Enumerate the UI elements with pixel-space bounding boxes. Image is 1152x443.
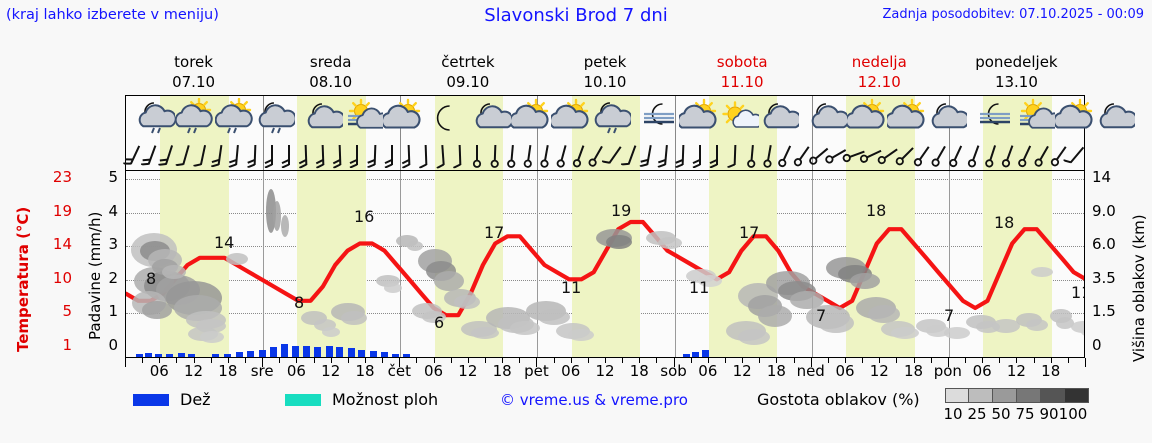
day-name: četrtek — [399, 52, 536, 72]
rain-bar — [236, 352, 243, 357]
day-header-sobota: sobota11.10 — [674, 52, 811, 94]
cloud-density-blob — [1031, 267, 1053, 277]
cloud-density-blob — [200, 331, 224, 343]
cloud-density-blob — [510, 321, 540, 335]
rain-bar — [136, 354, 143, 357]
cloud-density-swatch — [993, 388, 1017, 403]
weather-icon-sun-smallcloud — [719, 98, 759, 138]
cloud-density-blob — [658, 237, 682, 249]
cloud-height-tick: 6.0 — [1092, 235, 1126, 253]
cloud-density-blob — [434, 271, 464, 291]
temperature-tick: 5 — [42, 302, 72, 320]
weather-icon-sun-cloud-rain — [215, 98, 255, 138]
day-header-row: torek07.10sreda08.10četrtek09.10petek10.… — [125, 52, 1085, 94]
rain-bar — [270, 347, 277, 357]
weather-icon-sun-cloud — [551, 98, 591, 138]
temperature-point-label: 7 — [816, 306, 826, 325]
day-date: 11.10 — [674, 72, 811, 92]
copyright-link[interactable]: © vreme.us & vreme.pro — [500, 391, 688, 409]
cloud-height-tick: 0 — [1092, 336, 1126, 354]
cloud-density-swatch — [1041, 388, 1065, 403]
rain-bar — [303, 346, 310, 357]
rain-bar — [259, 350, 266, 357]
rain-bar — [336, 347, 343, 357]
last-update-text: Zadnja posodobitev: 07.10.2025 - 00:09 — [882, 7, 1144, 22]
rain-bar — [326, 346, 333, 357]
day-date: 08.10 — [262, 72, 399, 92]
weather-icon-sun-cloud — [887, 98, 927, 138]
cloud-density-blob — [281, 215, 289, 237]
day-name: petek — [536, 52, 673, 72]
weather-icon-night-cloud — [807, 98, 847, 138]
rain-bar — [348, 348, 355, 357]
meteogram-page: (kraj lahko izberete v meniju) Slavonski… — [0, 0, 1152, 443]
cloud-density-blob — [538, 309, 570, 325]
cloud-density-blob — [341, 311, 367, 325]
wind-barb — [1064, 142, 1090, 168]
day-header-četrtek: četrtek09.10 — [399, 52, 536, 94]
showers-legend-swatch — [285, 394, 321, 406]
rain-bar — [166, 354, 173, 357]
temperature-point-label: 17 — [739, 223, 759, 242]
cloud-density-blob — [606, 235, 632, 249]
x-tick — [1085, 358, 1086, 367]
rain-bar — [358, 350, 365, 357]
temperature-point-label: 6 — [434, 313, 444, 332]
precipitation-tick: 5 — [100, 168, 118, 186]
cloud-height-tick: 3.5 — [1092, 269, 1126, 287]
cloud-density-blob — [944, 327, 970, 339]
rain-bar — [292, 346, 299, 357]
rain-bar — [247, 351, 254, 357]
rain-bar — [212, 354, 219, 357]
temperature-tick: 23 — [42, 168, 72, 186]
rain-bar — [702, 350, 709, 357]
weather-icon-night-cloud-rain — [255, 98, 295, 138]
day-header-petek: petek10.10 — [536, 52, 673, 94]
rain-legend-swatch — [133, 394, 169, 406]
day-name: nedelja — [811, 52, 948, 72]
showers-legend-label: Možnost ploh — [332, 390, 438, 409]
day-header-nedelja: nedelja12.10 — [811, 52, 948, 94]
temperature-point-label: 11 — [1071, 283, 1085, 302]
day-date: 07.10 — [125, 72, 262, 92]
weather-icon-moon-clear — [423, 98, 463, 138]
weather-icon-night-cloud-rain — [135, 98, 175, 138]
temperature-axis-title: Temperatura (°C) — [14, 207, 32, 352]
weather-icon-night-cloud — [1095, 98, 1135, 138]
rain-bar — [381, 352, 388, 357]
cloud-density-blob — [471, 327, 499, 339]
precipitation-tick: 4 — [100, 202, 118, 220]
meteogram-plot: 8148166171119111771871811 — [125, 170, 1085, 358]
weather-icon-sun-cloud — [679, 98, 719, 138]
temperature-tick: 1 — [42, 336, 72, 354]
temperature-tick: 14 — [42, 235, 72, 253]
rain-bar — [403, 354, 410, 357]
cloud-density-blob — [454, 295, 480, 309]
weather-icon-night-cloud — [471, 98, 511, 138]
rain-bar — [281, 344, 288, 357]
day-name: sobota — [674, 52, 811, 72]
cloud-density-blob — [162, 265, 186, 279]
day-name: sreda — [262, 52, 399, 72]
day-date: 09.10 — [399, 72, 536, 92]
precipitation-tick: 0 — [100, 336, 118, 354]
cloud-density-swatch — [1065, 388, 1089, 403]
rain-bar — [314, 347, 321, 357]
weather-icon-night-cloud — [927, 98, 967, 138]
cloud-density-blob — [407, 241, 423, 251]
wind-barb-band — [125, 140, 1085, 170]
cloud-density-swatch — [969, 388, 993, 403]
cloud-density-legend-title: Gostota oblakov (%) — [757, 390, 920, 409]
temperature-point-label: 19 — [611, 201, 631, 220]
day-name: ponedeljek — [948, 52, 1085, 72]
temperature-point-label: 18 — [866, 201, 886, 220]
rain-bar — [178, 353, 185, 357]
precipitation-tick: 3 — [100, 235, 118, 253]
weather-icon-sun-cloud — [383, 98, 423, 138]
cloud-density-swatch — [945, 388, 969, 403]
temperature-point-label: 7 — [944, 306, 954, 325]
rain-bar — [370, 351, 377, 357]
day-date: 10.10 — [536, 72, 673, 92]
day-date: 12.10 — [811, 72, 948, 92]
rain-bar — [188, 354, 195, 357]
cloud-density-blob — [226, 253, 248, 265]
weather-icon-sun-cloud — [1055, 98, 1095, 138]
day-name: torek — [125, 52, 262, 72]
weather-icon-sun-cloud-rain — [175, 98, 215, 138]
cloud-density-blob — [568, 329, 594, 341]
temperature-tick: 10 — [42, 269, 72, 287]
x-axis: 061218sre061218čet061218pet061218sob0612… — [125, 358, 1085, 380]
rain-bar — [392, 354, 399, 357]
weather-icon-night-cloud-rain — [591, 98, 631, 138]
rain-legend-label: Dež — [180, 390, 211, 409]
cloud-density-blob — [1026, 319, 1048, 331]
weather-icon-sun-fog — [343, 98, 383, 138]
day-header-ponedeljek: ponedeljek13.10 — [948, 52, 1085, 94]
temperature-point-label: 8 — [294, 293, 304, 312]
temperature-point-label: 14 — [214, 233, 234, 252]
x-axis-label: 18 — [1031, 362, 1071, 380]
day-header-torek: torek07.10 — [125, 52, 262, 94]
weather-icon-sun-cloud — [511, 98, 551, 138]
cloud-density-blob — [384, 283, 402, 293]
x-tick — [125, 358, 126, 367]
weather-icon-moon-fog — [639, 98, 679, 138]
temperature-tick: 19 — [42, 202, 72, 220]
cloud-density-blob — [273, 201, 281, 231]
legend: Dež Možnost ploh © vreme.us & vreme.pro … — [0, 385, 1152, 425]
temperature-point-label: 11 — [689, 278, 709, 297]
rain-bar — [692, 352, 699, 357]
cloud-height-axis-title: Višina oblakov (km) — [1130, 214, 1148, 362]
weather-icon-night-cloud — [303, 98, 343, 138]
cloud-density-blob — [142, 301, 172, 319]
cloud-density-blob — [850, 273, 880, 289]
rain-bar — [683, 354, 690, 357]
weather-icon-sun-cloud — [847, 98, 887, 138]
weather-icon-band — [125, 95, 1085, 140]
rain-bar — [145, 353, 152, 357]
weather-icon-sun-fog — [1015, 98, 1055, 138]
rain-bar — [224, 354, 231, 357]
cloud-density-blob — [738, 329, 770, 345]
temperature-point-label: 11 — [561, 278, 581, 297]
temperature-point-label: 17 — [484, 223, 504, 242]
temperature-point-label: 8 — [146, 269, 156, 288]
day-header-sreda: sreda08.10 — [262, 52, 399, 94]
cloud-height-tick: 14 — [1092, 168, 1126, 186]
cloud-height-tick: 9.0 — [1092, 202, 1126, 220]
cloud-density-swatch — [1017, 388, 1041, 403]
precipitation-tick: 2 — [100, 269, 118, 287]
cloud-density-blob — [322, 327, 340, 337]
temperature-point-label: 16 — [354, 207, 374, 226]
cloud-height-tick: 1.5 — [1092, 302, 1126, 320]
precipitation-tick: 1 — [100, 302, 118, 320]
weather-icon-moon-fog — [975, 98, 1015, 138]
cloud-density-tick: 100 — [1058, 405, 1088, 423]
day-date: 13.10 — [948, 72, 1085, 92]
temperature-point-label: 18 — [994, 213, 1014, 232]
cloud-density-blob — [758, 305, 792, 327]
cloud-density-blob — [891, 327, 919, 339]
rain-bar — [155, 354, 162, 357]
weather-icon-night-cloud — [759, 98, 799, 138]
